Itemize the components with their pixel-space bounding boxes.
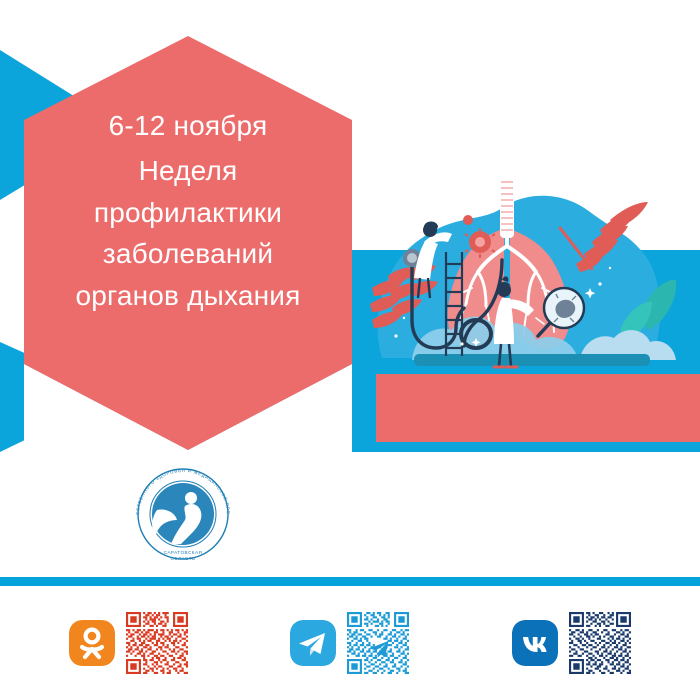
social-group-odnoklassniki[interactable] <box>69 612 188 674</box>
telegram-qr-code[interactable] <box>347 612 409 674</box>
social-group-vkontakte[interactable] <box>512 612 631 674</box>
vkontakte-icon[interactable] <box>512 620 558 666</box>
odnoklassniki-qr-code[interactable] <box>126 612 188 674</box>
logo-region-line-1: САРАТОВСКАЯ <box>164 550 203 555</box>
footer-social-bar <box>0 586 700 700</box>
poster-root: 6-12 ноября Неделя профилактики заболева… <box>0 0 700 700</box>
platform <box>414 354 650 366</box>
organization-logo: ЦЕНТР ОБЩЕСТВЕННОГО ЗДОРОВЬЯ И МЕДИЦИНСК… <box>123 458 243 566</box>
social-group-telegram[interactable] <box>290 612 409 674</box>
odnoklassniki-icon[interactable] <box>69 620 115 666</box>
telegram-icon[interactable] <box>290 620 336 666</box>
vkontakte-qr-code[interactable] <box>569 612 631 674</box>
salmon-bottom-rect <box>376 374 700 442</box>
logo-region-line-2: ОБЛАСТЬ <box>170 556 195 561</box>
trachea <box>500 176 514 238</box>
lungs-health-illustration <box>352 168 682 383</box>
footer-divider-rule <box>0 577 700 586</box>
